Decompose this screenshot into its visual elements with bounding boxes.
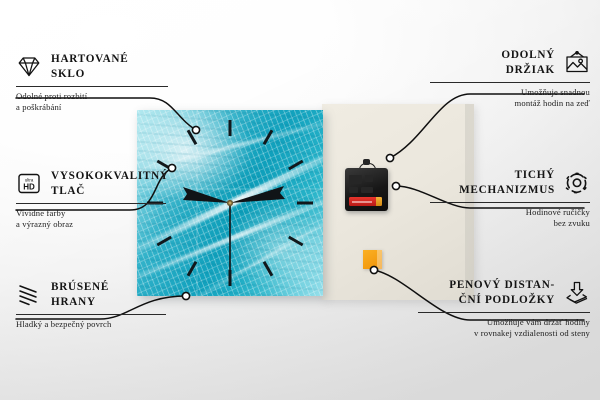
feature-header: ultra HD VYSOKOKVALITNÝ TLAČ bbox=[16, 169, 166, 198]
divider bbox=[16, 314, 166, 315]
gear-icon bbox=[564, 171, 590, 194]
feature-header: ODOLNÝ DRŽIAK bbox=[430, 48, 590, 77]
feature-description: Hladký a bezpečný povrch bbox=[16, 319, 166, 330]
feature-description: Hodinové ručičky bez zvuku bbox=[430, 207, 590, 230]
divider bbox=[16, 203, 166, 204]
connector-dot-edges bbox=[182, 292, 189, 299]
feature-header: HARTOVANÉ SKLO bbox=[16, 52, 168, 81]
feature-header: TICHÝ MECHANIZMUS bbox=[430, 168, 590, 197]
divider bbox=[430, 202, 590, 203]
diagonal-lines-icon bbox=[16, 283, 42, 306]
feature-description: Umožňuje snadnou montáž hodin na zeď bbox=[430, 87, 590, 110]
feature-description: Vivídne farby a výrazný obraz bbox=[16, 208, 166, 231]
feature-description: Umožňuje vám držať hodiny v rovnakej vzd… bbox=[418, 317, 590, 340]
feature-title: HARTOVANÉ SKLO bbox=[51, 52, 128, 81]
feature-title: TICHÝ MECHANIZMUS bbox=[459, 168, 555, 197]
feature-description: Odolné proti rozbití a poškrábání bbox=[16, 91, 168, 114]
feature-polished-edges: BRÚSENÉ HRANY Hladký a bezpečný povrch bbox=[16, 280, 166, 330]
feature-tempered-glass: HARTOVANÉ SKLO Odolné proti rozbití a po… bbox=[16, 52, 168, 114]
feature-title: ODOLNÝ DRŽIAK bbox=[501, 48, 555, 77]
connector-dot-foam bbox=[370, 266, 377, 273]
feature-high-quality-print: ultra HD VYSOKOKVALITNÝ TLAČ Vivídne far… bbox=[16, 169, 166, 231]
divider bbox=[418, 312, 590, 313]
feature-foam-spacers: PENOVÝ DISTAN- ČNÍ PODLOŽKY Umožňuje vám… bbox=[418, 278, 590, 340]
svg-text:HD: HD bbox=[23, 183, 35, 192]
product-infographic: HARTOVANÉ SKLO Odolné proti rozbití a po… bbox=[0, 0, 600, 400]
feature-durable-holder: ODOLNÝ DRŽIAK Umožňuje snadnou montáž ho… bbox=[430, 48, 590, 110]
connector-dot-mechanism bbox=[392, 182, 399, 189]
connector-dot-print bbox=[168, 164, 175, 171]
feature-title: BRÚSENÉ HRANY bbox=[51, 280, 109, 309]
feature-header: BRÚSENÉ HRANY bbox=[16, 280, 166, 309]
connector-dot-holder bbox=[386, 154, 393, 161]
picture-hanger-icon bbox=[564, 51, 590, 74]
feature-header: PENOVÝ DISTAN- ČNÍ PODLOŽKY bbox=[418, 278, 590, 307]
feature-title: PENOVÝ DISTAN- ČNÍ PODLOŽKY bbox=[449, 278, 555, 307]
divider bbox=[430, 82, 590, 83]
diamond-icon bbox=[16, 55, 42, 78]
divider bbox=[16, 86, 168, 87]
feature-title: VYSOKOKVALITNÝ TLAČ bbox=[51, 169, 169, 198]
connector-dot-tempered-glass bbox=[192, 126, 199, 133]
ultra-hd-icon: ultra HD bbox=[16, 172, 42, 195]
feature-silent-mechanism: TICHÝ MECHANIZMUS Hodinové ručičky bez z… bbox=[430, 168, 590, 230]
stacked-layers-down-arrow-icon bbox=[564, 281, 590, 304]
